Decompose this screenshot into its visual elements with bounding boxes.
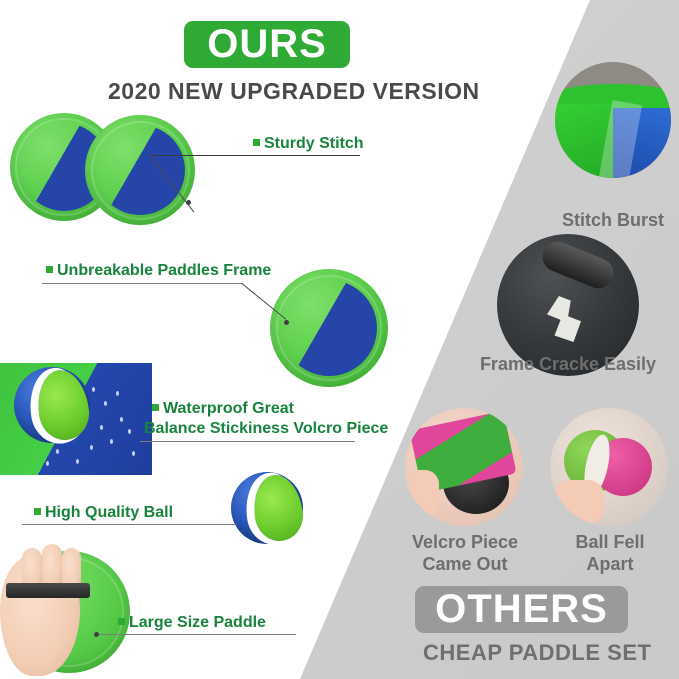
leader-dot — [94, 632, 99, 637]
others-subtitle: CHEAP PADDLE SET — [423, 640, 651, 666]
bullet-square-icon — [118, 618, 125, 625]
ours-badge: OURS — [184, 21, 350, 68]
ball-photo-quality — [231, 472, 303, 544]
leader-line-large-size-paddle — [96, 634, 296, 635]
paddle-rim — [91, 121, 190, 220]
comparison-infographic: OURS 2020 NEW UPGRADED VERSION — [0, 0, 679, 679]
ball-fell-apart-photo — [550, 408, 668, 526]
bullet-square-icon — [46, 266, 53, 273]
velcro-came-out-photo — [405, 408, 523, 526]
paddle-photo-frame — [270, 269, 388, 387]
leader-dot — [284, 320, 289, 325]
stitch-burst-photo — [555, 62, 671, 178]
caption-ball-fell-apart: Ball FellApart — [545, 532, 675, 575]
annotation-sturdy-stitch: Sturdy Stitch — [253, 134, 364, 154]
annotation-unbreakable-frame: Unbreakable Paddles Frame — [46, 261, 271, 281]
caption-stitch-burst: Stitch Burst — [555, 210, 671, 232]
bullet-square-icon — [34, 508, 41, 515]
leader-line-sturdy-stitch — [150, 155, 360, 156]
paddle-rim — [276, 275, 382, 381]
bullet-square-icon — [253, 139, 260, 146]
others-badge: OTHERS — [415, 586, 628, 633]
caption-velcro-came-out: Velcro PieceCame Out — [390, 532, 540, 575]
annotation-large-size-paddle: Large Size Paddle — [118, 613, 266, 633]
bullet-square-icon — [152, 404, 159, 411]
caption-frame-cracke: Frame Cracke Easily — [455, 354, 679, 376]
ball-green-swirl — [250, 472, 306, 544]
ball-photo-on-paddle — [14, 367, 90, 443]
annotation-high-quality-ball: High Quality Ball — [34, 503, 173, 523]
leader-line-unbreakable-frame — [42, 283, 242, 284]
leader-line-high-quality-ball — [22, 524, 237, 525]
leader-line-waterproof — [140, 441, 355, 442]
annotation-waterproof: Waterproof Great Balance Stickiness Volc… — [152, 399, 388, 439]
velcro-strap — [6, 583, 90, 598]
ours-subtitle: 2020 NEW UPGRADED VERSION — [108, 78, 480, 105]
paddle-photo-front — [85, 115, 195, 225]
leader-dot — [186, 200, 191, 205]
